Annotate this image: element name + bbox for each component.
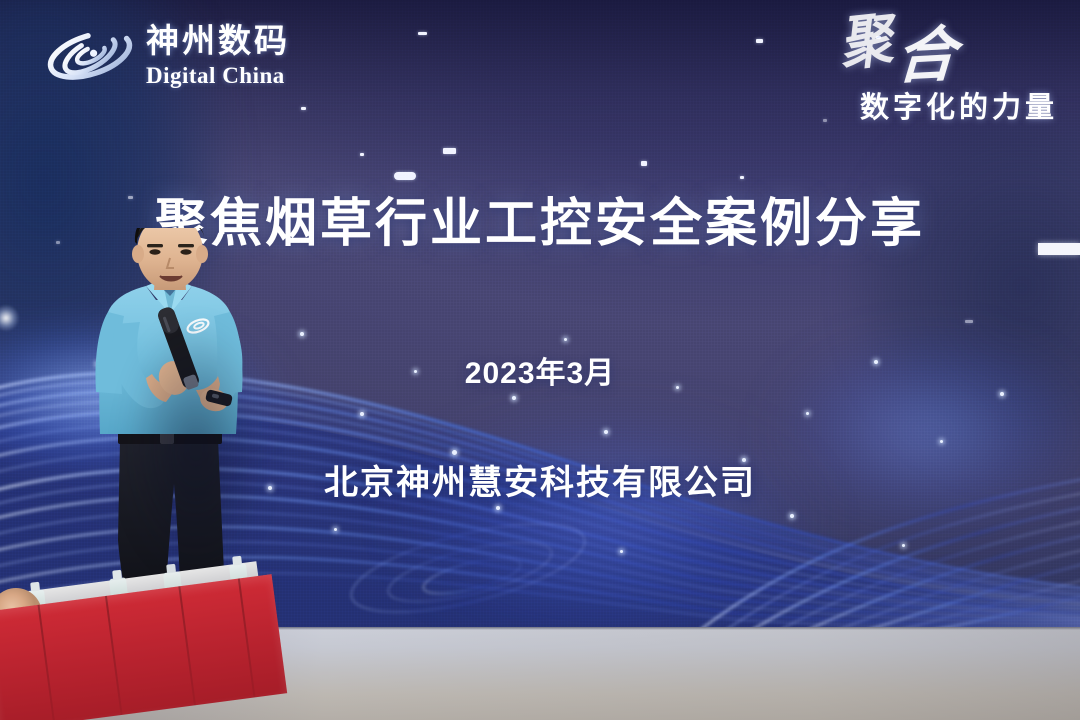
- event-slogan: 聚 合 数字化的力量: [818, 16, 1058, 126]
- led-bar-artifact: [1038, 243, 1080, 255]
- slogan-calligraphy: 聚 合: [818, 16, 1058, 82]
- skirt-fold: [178, 586, 196, 705]
- stage-light-flare: [0, 300, 24, 336]
- slogan-char-he: 合: [894, 24, 957, 87]
- conference-stage-photo: 神州数码 Digital China 聚 合 数字化的力量 聚焦烟草行业工控安全…: [0, 0, 1080, 720]
- slogan-char-ju: 聚: [837, 12, 895, 75]
- brand-wordmark: 神州数码 Digital China: [146, 24, 290, 87]
- brand-name-en: Digital China: [146, 64, 290, 87]
- digital-china-spiral-logo-icon: [44, 20, 136, 90]
- brand-name-cn: 神州数码: [146, 24, 290, 57]
- slogan-subtitle: 数字化的力量: [818, 84, 1058, 126]
- skirt-fold: [105, 596, 123, 715]
- skirt-fold: [38, 605, 56, 720]
- brand-logo: 神州数码 Digital China: [44, 20, 290, 90]
- foreground-head-table: [0, 560, 264, 720]
- skirt-fold: [238, 578, 256, 697]
